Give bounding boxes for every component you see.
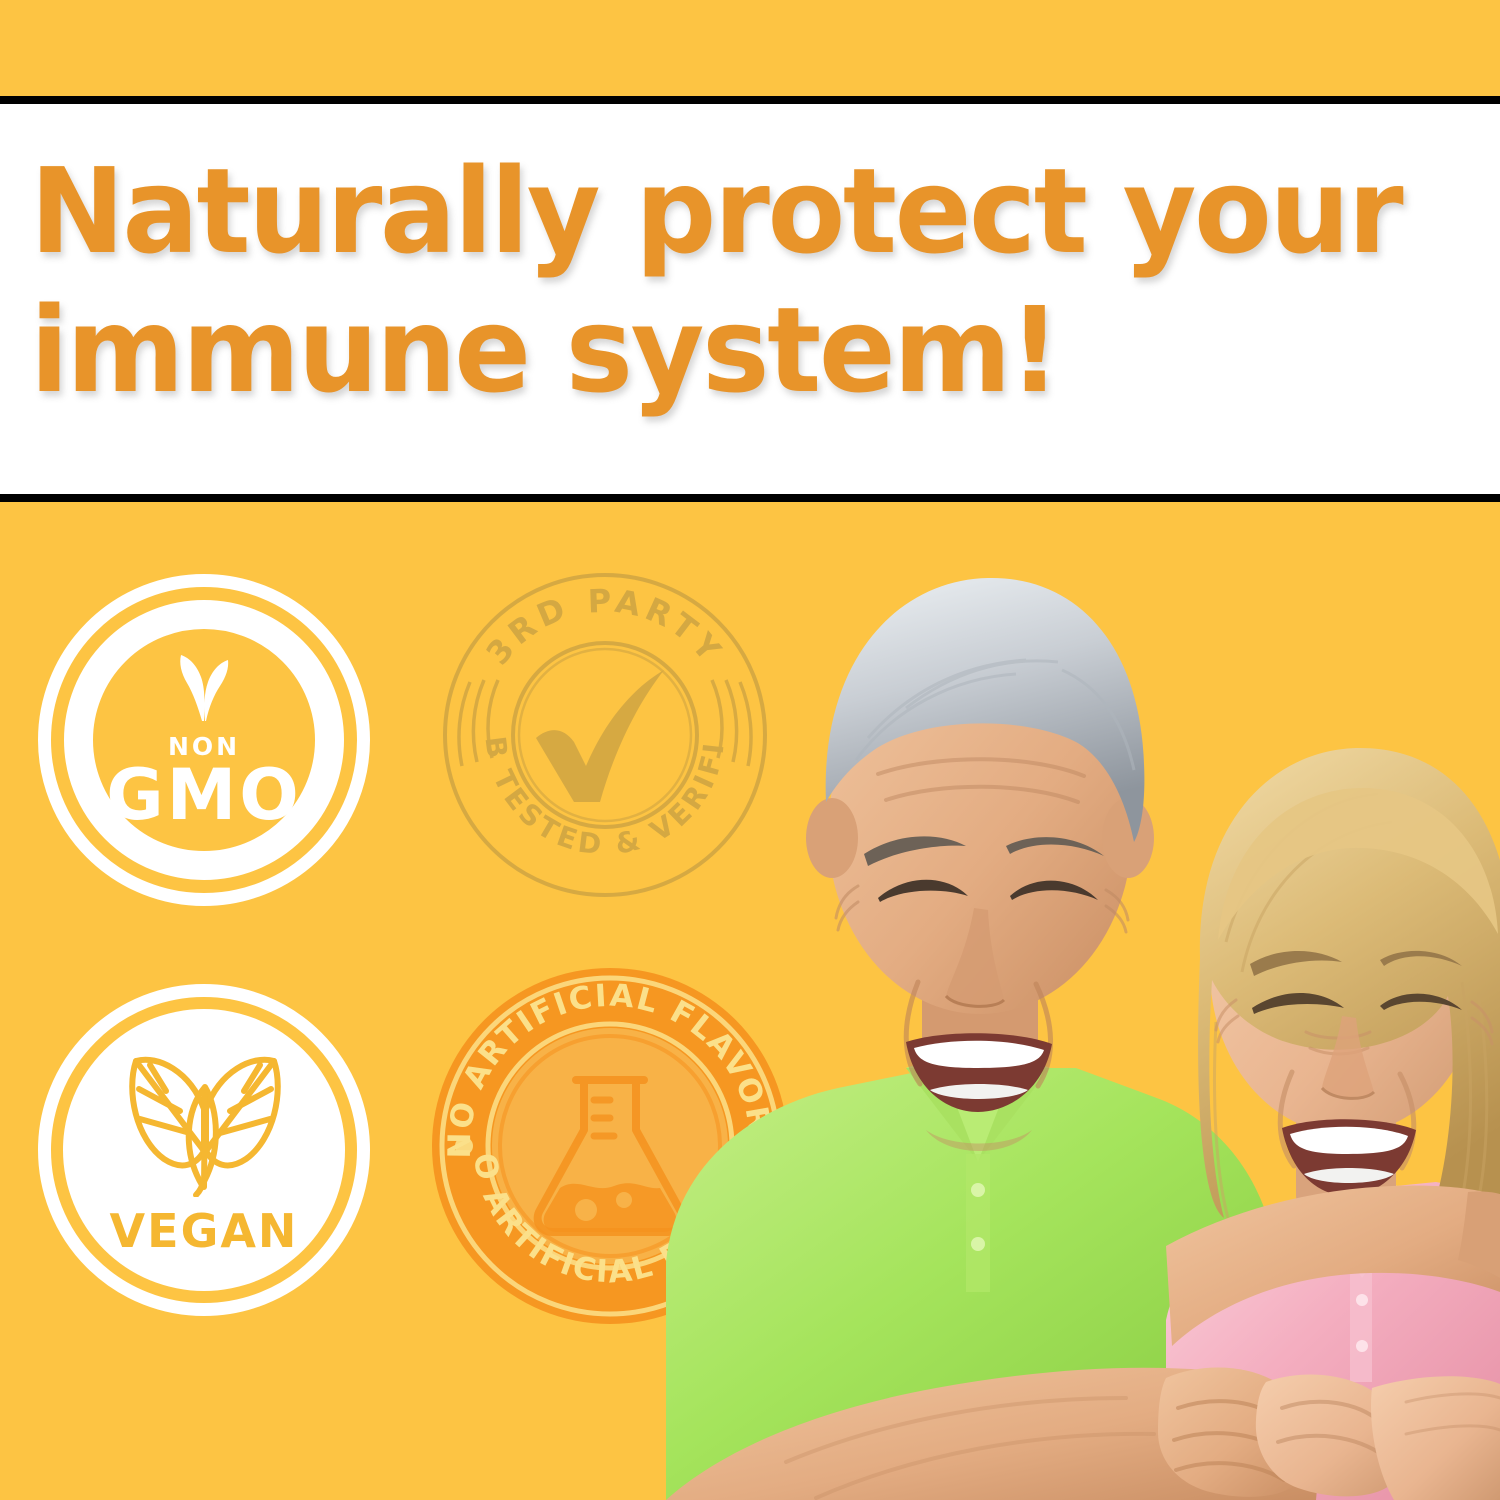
badge-vegan: VEGAN [38,984,370,1316]
badge-lab-arc-top-label: 3RD PARTY [440,900,441,901]
divider-line-top [0,96,1500,104]
sprout-leaf-icon [165,649,243,730]
product-infographic-poster: Naturally protect your immune system! NO… [0,0,1500,1500]
badge-lab-arc-bottom-label: LAB TESTED & VERIFIED [440,900,441,901]
badge-non-gmo: NON GMO [38,574,370,906]
badge-flavors-arc-top-label: NO ARTIFICIAL FLAVORS [428,1328,429,1329]
divider-line-bottom [0,494,1500,502]
badge-label-gmo: GMO [106,760,302,831]
headline-text: Naturally protect your immune system! [30,142,1412,420]
badges-and-photo-panel: NON GMO [0,502,1500,1500]
two-leaves-icon [120,1047,288,1202]
headline-panel: Naturally protect your immune system! [0,104,1500,494]
senior-couple-photo [606,502,1500,1500]
badge-content: VEGAN [38,984,370,1316]
badge-label-vegan: VEGAN [110,1208,299,1254]
badge-content: NON GMO [38,574,370,906]
badge-flavors-arc-bottom-label: NO ARTIFICIAL FLAVORS [428,1328,429,1329]
top-color-band [0,0,1500,96]
